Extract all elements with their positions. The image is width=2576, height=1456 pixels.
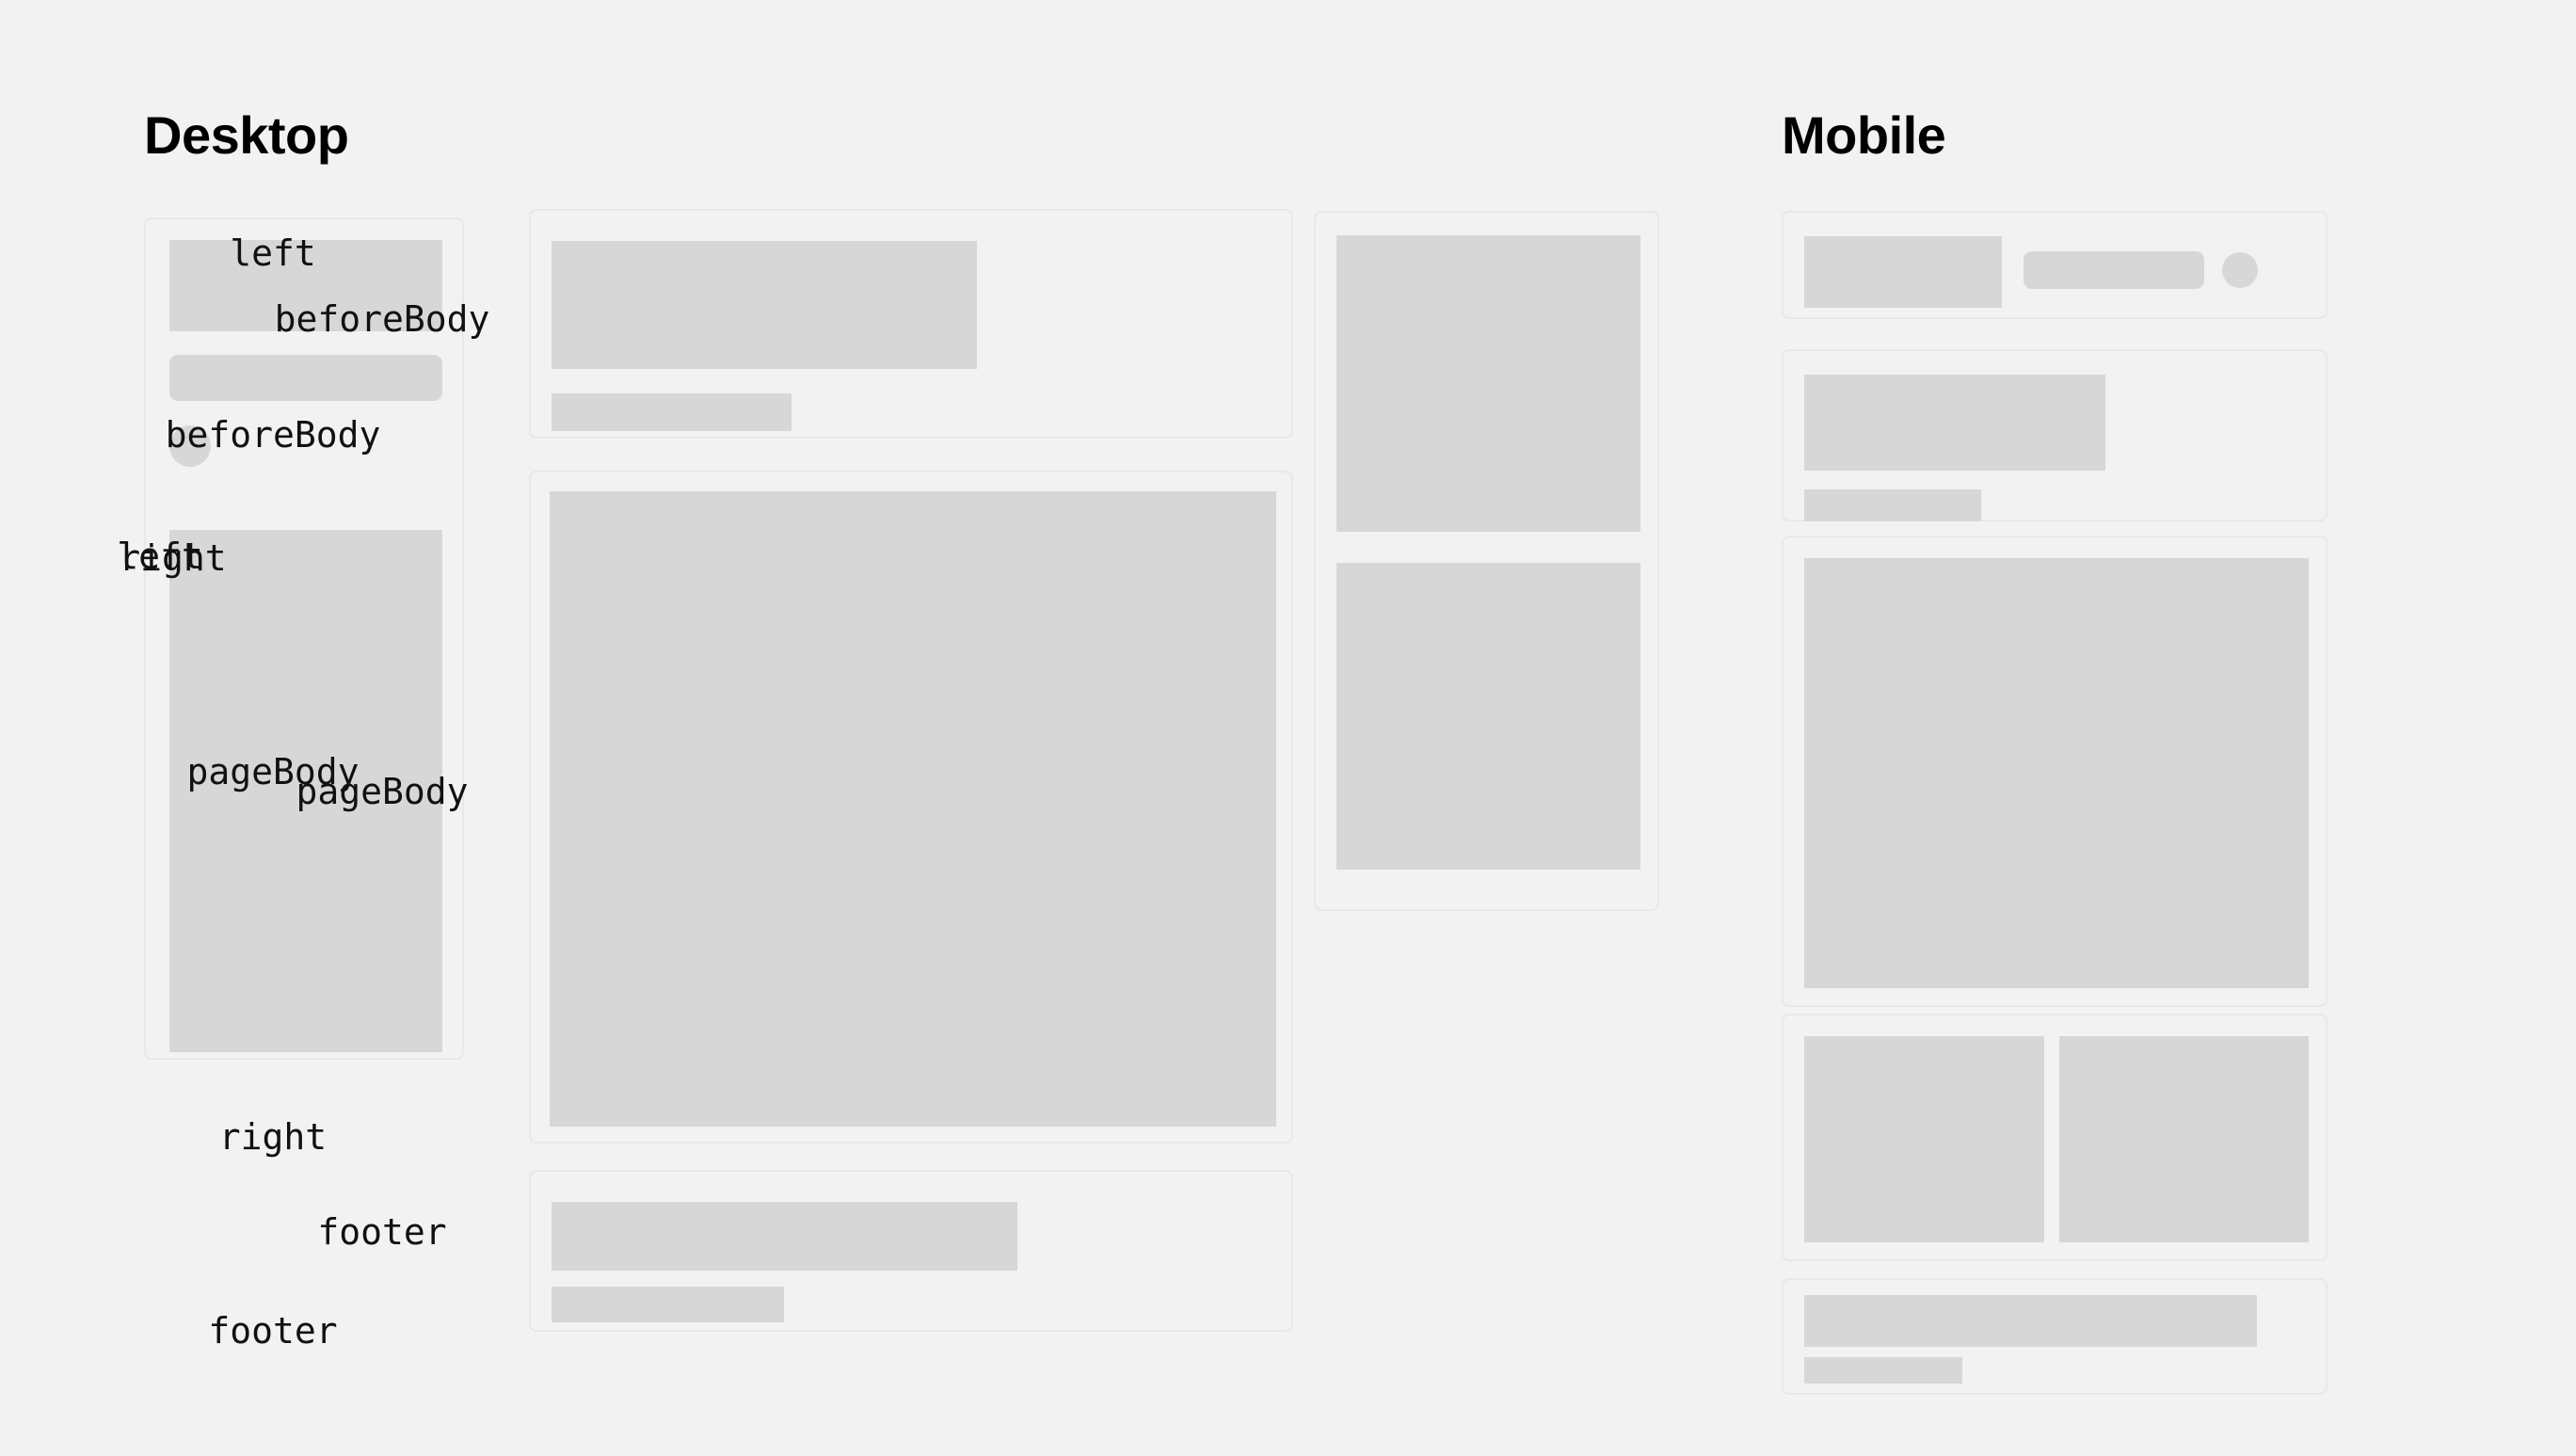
mobile-pagebody-panel: [1782, 536, 2328, 1007]
mobile-beforebody-caption-block: [1804, 489, 1981, 521]
desktop-left-nav-block: [169, 530, 442, 1052]
mobile-section-title: Mobile: [1782, 109, 1945, 162]
mobile-left-header-block: [1804, 236, 2002, 308]
mobile-left-avatar-circle-icon: [2222, 252, 2258, 288]
desktop-beforebody-banner-block: [552, 241, 977, 369]
mobile-footer-caption-block: [1804, 1357, 1962, 1384]
mobile-pagebody-content-block: [1804, 558, 2309, 988]
desktop-footer-block: [552, 1202, 1017, 1271]
desktop-right-panel: [1314, 211, 1659, 911]
desktop-left-avatar-circle-icon: [169, 425, 211, 467]
mobile-right-widget-block-left: [1804, 1036, 2044, 1242]
mobile-right-panel: [1782, 1014, 2328, 1261]
desktop-right-widget-block-bottom: [1336, 563, 1640, 870]
desktop-footer-caption-block: [552, 1287, 784, 1322]
mobile-beforebody-banner-block: [1804, 375, 2105, 471]
desktop-pagebody-content-block: [550, 491, 1276, 1127]
mobile-footer-panel: [1782, 1278, 2328, 1395]
mobile-left-subheader-block: [2024, 251, 2204, 289]
mobile-footer-slot-label: footer: [0, 1313, 546, 1349]
mobile-beforebody-panel: [1782, 349, 2328, 521]
desktop-footer-panel: [529, 1170, 1293, 1332]
mobile-right-slot-label: right: [0, 1119, 546, 1155]
desktop-left-header-block: [169, 240, 442, 331]
desktop-beforebody-panel: [529, 209, 1293, 439]
desktop-beforebody-caption-block: [552, 393, 792, 431]
desktop-pagebody-panel: [529, 471, 1293, 1144]
mobile-right-widget-block-right: [2059, 1036, 2309, 1242]
desktop-section-title: Desktop: [144, 109, 348, 162]
desktop-left-subheader-block: [169, 355, 442, 401]
desktop-left-panel: [144, 217, 464, 1060]
desktop-right-widget-block-top: [1336, 235, 1640, 532]
mobile-left-panel: [1782, 211, 2328, 319]
mobile-footer-block: [1804, 1295, 2257, 1347]
